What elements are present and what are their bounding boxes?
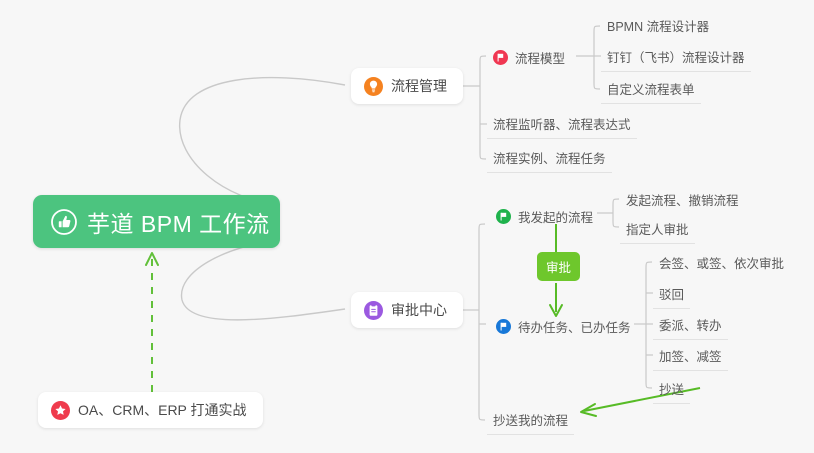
leaf-label-bpmn-designer: BPMN 流程设计器 [607,20,709,34]
leaf-label-add-remove-sign: 加签、减签 [659,350,722,364]
leaf-label-cc-my-process: 抄送我的流程 [493,414,568,428]
branch-node-approval-center[interactable]: 审批中心 [351,292,463,328]
node-label-my-started-process: 我发起的流程 [518,207,593,226]
link-model-trunk [594,26,600,89]
root-label: 芋道 BPM 工作流 [87,205,270,239]
leaf-start-cancel-process[interactable]: 发起流程、撤销流程 [620,186,745,215]
branch-label-approval-center: 审批中心 [391,300,447,320]
leaf-cc-my-process[interactable]: 抄送我的流程 [487,406,574,435]
leaf-reject[interactable]: 驳回 [653,280,690,309]
root-node[interactable]: 芋道 BPM 工作流 [33,195,280,248]
node-label-todo-done-task: 待办任务、已办任务 [518,317,631,336]
leaf-instance-task[interactable]: 流程实例、流程任务 [487,144,612,173]
leaf-label-reject: 驳回 [659,288,684,302]
node-my-started-process[interactable]: 我发起的流程 [494,203,599,232]
star-red-icon [51,401,70,420]
leaf-label-dingtalk-feishu-designer: 钉钉（飞书）流程设计器 [607,51,745,65]
lightbulb-icon [364,77,383,96]
arrow-footer-head [146,253,158,265]
leaf-custom-process-form[interactable]: 自定义流程表单 [601,75,701,104]
leaf-cc[interactable]: 抄送 [653,375,690,404]
leaf-label-assignee-approval: 指定人审批 [626,223,689,237]
leaf-label-start-cancel-process: 发起流程、撤销流程 [626,194,739,208]
leaf-dingtalk-feishu-designer[interactable]: 钉钉（飞书）流程设计器 [601,43,751,72]
leaf-assignee-approval[interactable]: 指定人审批 [620,215,695,244]
link-started-trunk [613,199,619,227]
link-root-to-approval-center [182,240,345,320]
leaf-bpmn-designer[interactable]: BPMN 流程设计器 [601,12,715,41]
branch-node-process-management[interactable]: 流程管理 [351,68,463,104]
flag-green-icon [496,209,511,224]
flag-red-icon [493,50,508,65]
badge-label-approval: 审批 [546,257,571,276]
flag-blue-icon [496,319,511,334]
document-purple-icon [364,301,383,320]
footer-node[interactable]: OA、CRM、ERP 打通实战 [38,392,263,428]
badge-approval[interactable]: 审批 [537,252,580,281]
leaf-delegate-transfer[interactable]: 委派、转办 [653,311,728,340]
node-label-process-model: 流程模型 [515,48,565,67]
node-process-model[interactable]: 流程模型 [491,44,571,73]
leaf-label-countersign: 会签、或签、依次审批 [659,257,784,271]
leaf-listener-expression[interactable]: 流程监听器、流程表达式 [487,110,637,139]
branch-label-process-management: 流程管理 [391,76,447,96]
mindmap-canvas: 芋道 BPM 工作流 流程管理 流程模型 BPMN 流程设计器 钉钉（飞书 [0,0,814,453]
leaf-label-instance-task: 流程实例、流程任务 [493,152,606,166]
link-ac-trunk [479,224,485,420]
leaf-label-delegate-transfer: 委派、转办 [659,319,722,333]
link-root-to-process-management [180,78,345,205]
leaf-add-remove-sign[interactable]: 加签、减签 [653,342,728,371]
link-pm-trunk [480,56,486,159]
thumbs-up-icon [51,209,77,235]
footer-node-label: OA、CRM、ERP 打通实战 [78,400,247,420]
arrow-cc-head [581,404,596,416]
leaf-label-cc: 抄送 [659,383,684,397]
link-todo-trunk [646,262,652,388]
leaf-label-listener-expression: 流程监听器、流程表达式 [493,118,631,132]
leaf-countersign[interactable]: 会签、或签、依次审批 [653,249,790,278]
leaf-label-custom-process-form: 自定义流程表单 [607,83,695,97]
node-todo-done-task[interactable]: 待办任务、已办任务 [494,313,637,342]
